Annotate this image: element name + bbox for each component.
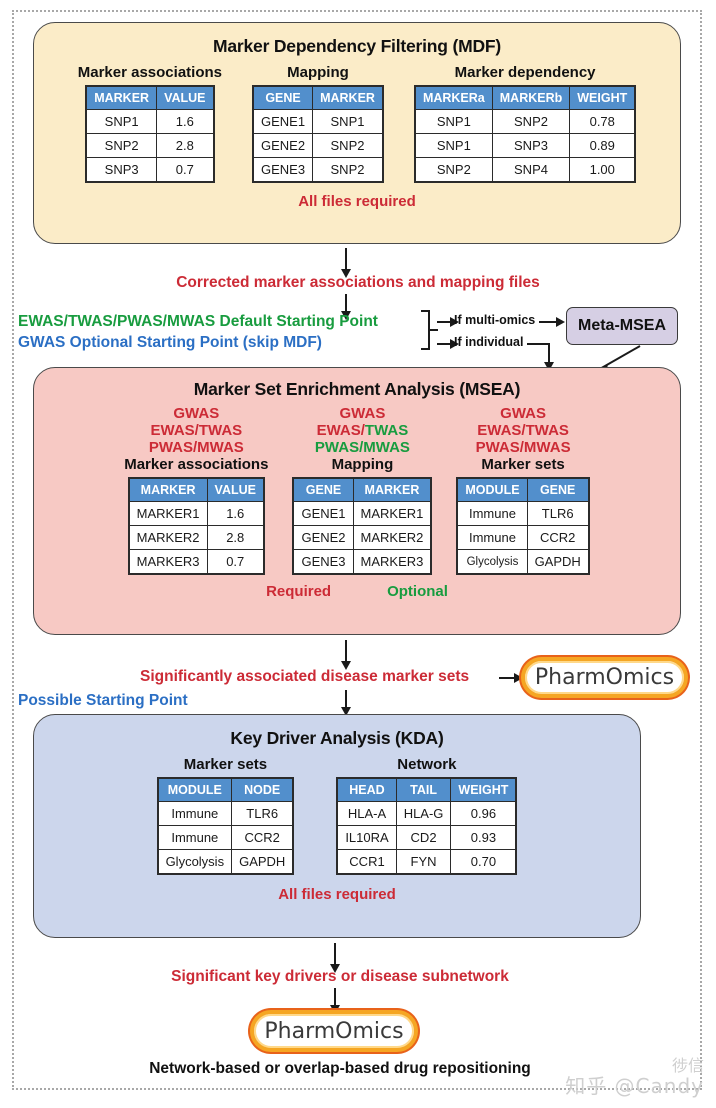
table-header-row: HEADTAILWEIGHT — [337, 778, 516, 802]
table-header-row: MARKERVALUE — [86, 86, 213, 110]
table-cell: SNP2 — [415, 158, 492, 183]
data-table: HEADTAILWEIGHTHLA-AHLA-G0.96IL10RACD20.9… — [336, 777, 517, 875]
table-cell: Immune — [457, 502, 527, 526]
omics-text-2: TWAS — [365, 422, 408, 439]
table-row: SNP30.7 — [86, 158, 213, 183]
pharmomics-logo-bottom[interactable]: PharmOmics — [250, 1010, 418, 1052]
table-cell: HLA-G — [396, 802, 451, 826]
omics-text: EWAS/ — [317, 422, 365, 439]
table-cell: MARKER3 — [353, 550, 431, 575]
table-header-row: GENEMARKER — [293, 478, 431, 502]
column-header: WEIGHT — [570, 86, 636, 110]
table-row: GENE1SNP1 — [253, 110, 383, 134]
column-caption: Network — [397, 756, 456, 773]
table-cell: SNP2 — [313, 134, 383, 158]
table-row: SNP1SNP30.89 — [415, 134, 635, 158]
column-header: MODULE — [457, 478, 527, 502]
table-cell: CCR2 — [232, 826, 294, 850]
data-table: GENEMARKERGENE1MARKER1GENE2MARKER2GENE3M… — [292, 477, 432, 575]
column-header: TAIL — [396, 778, 451, 802]
table-cell: Glycolysis — [457, 550, 527, 575]
column-header: MARKER — [353, 478, 431, 502]
column-header: HEAD — [337, 778, 396, 802]
table-row: MARKER30.7 — [129, 550, 264, 575]
table-cell: SNP2 — [492, 110, 570, 134]
omics-line: GWAS — [476, 405, 571, 422]
column-header: MODULE — [158, 778, 232, 802]
table-column-1: Marker associationsMARKERVALUESNP11.6SNP… — [78, 64, 222, 183]
omics-line: EWAS/TWAS — [476, 422, 571, 439]
kda-title: Key Driver Analysis (KDA) — [34, 728, 640, 749]
table-row: SNP11.6 — [86, 110, 213, 134]
table-cell: GENE3 — [293, 550, 353, 575]
table-row: MARKER22.8 — [129, 526, 264, 550]
table-cell: Glycolysis — [158, 850, 232, 875]
table-cell: 1.00 — [570, 158, 636, 183]
branch-bracket-stem — [429, 329, 438, 331]
column-caption: Mapping — [332, 456, 394, 473]
arrow-to-bottom-pharmomics — [334, 988, 336, 1006]
table-row: GENE2MARKER2 — [293, 526, 431, 550]
column-header: GENE — [293, 478, 353, 502]
table-cell: SNP1 — [313, 110, 383, 134]
omics-labels: GWASEWAS/TWASPWAS/MWAS — [315, 405, 410, 456]
data-table: MARKERVALUESNP11.6SNP22.8SNP30.7 — [85, 85, 214, 183]
significant-sets-label: Significantly associated disease marker … — [140, 668, 469, 686]
column-caption: Mapping — [287, 64, 349, 81]
table-row: IL10RACD20.93 — [337, 826, 516, 850]
table-cell: SNP1 — [86, 110, 156, 134]
table-cell: TLR6 — [527, 502, 589, 526]
table-cell: 0.70 — [451, 850, 517, 875]
column-header: VALUE — [207, 478, 264, 502]
table-cell: 0.7 — [207, 550, 264, 575]
table-cell: FYN — [396, 850, 451, 875]
table-cell: Immune — [457, 526, 527, 550]
column-header: MARKERa — [415, 86, 492, 110]
mdf-note: All files required — [34, 193, 680, 210]
mdf-title: Marker Dependency Filtering (MDF) — [34, 36, 680, 57]
omics-text: GWAS — [500, 405, 546, 422]
table-row: ImmuneTLR6 — [457, 502, 588, 526]
table-cell: MARKER1 — [129, 502, 207, 526]
pharmomics-label-bottom: PharmOmics — [264, 1019, 403, 1044]
column-caption: Marker associations — [124, 456, 268, 473]
omics-text: GWAS — [173, 405, 219, 422]
table-cell: 1.6 — [157, 110, 214, 134]
table-column-1: GWASEWAS/TWASPWAS/MWASMarker association… — [124, 405, 268, 575]
omics-line: GWAS — [149, 405, 244, 422]
meta-msea-box[interactable]: Meta-MSEA — [566, 307, 678, 345]
table-header-row: GENEMARKER — [253, 86, 383, 110]
data-table: GENEMARKERGENE1SNP1GENE2SNP2GENE3SNP2 — [252, 85, 384, 183]
table-cell: 0.89 — [570, 134, 636, 158]
table-row: ImmuneCCR2 — [457, 526, 588, 550]
omics-text: EWAS/TWAS — [477, 422, 569, 439]
table-row: MARKER11.6 — [129, 502, 264, 526]
column-caption: Marker associations — [78, 64, 222, 81]
omics-line: PWAS/MWAS — [149, 439, 244, 456]
omics-line: GWAS — [315, 405, 410, 422]
table-cell: TLR6 — [232, 802, 294, 826]
pharmomics-label: PharmOmics — [535, 665, 674, 690]
table-row: GENE3MARKER3 — [293, 550, 431, 575]
table-cell: Immune — [158, 802, 232, 826]
table-cell: GAPDH — [527, 550, 589, 575]
omics-line: PWAS/MWAS — [315, 439, 410, 456]
table-row: GENE3SNP2 — [253, 158, 383, 183]
table-cell: GENE1 — [253, 110, 313, 134]
omics-line: PWAS/MWAS — [476, 439, 571, 456]
table-column-3: Marker dependencyMARKERaMARKERbWEIGHTSNP… — [414, 64, 636, 183]
column-header: MARKER — [129, 478, 207, 502]
arrow-to-if-individual — [437, 343, 451, 345]
omics-line: EWAS/TWAS — [149, 422, 244, 439]
table-column-2: GWASEWAS/TWASPWAS/MWASMappingGENEMARKERG… — [292, 405, 432, 575]
data-table: MARKERVALUEMARKER11.6MARKER22.8MARKER30.… — [128, 477, 265, 575]
table-row: SNP2SNP41.00 — [415, 158, 635, 183]
watermark: 徏信 知乎 @Candy — [565, 1056, 704, 1096]
column-header: NODE — [232, 778, 294, 802]
table-column-3: GWASEWAS/TWASPWAS/MWASMarker setsMODULEG… — [456, 405, 589, 575]
msea-title: Marker Set Enrichment Analysis (MSEA) — [34, 379, 680, 400]
elbow-individual-horizontal — [527, 343, 550, 345]
table-cell: SNP1 — [415, 134, 492, 158]
table-cell: SNP3 — [86, 158, 156, 183]
table-cell: 2.8 — [207, 526, 264, 550]
table-header-row: MODULEGENE — [457, 478, 588, 502]
table-cell: GENE1 — [293, 502, 353, 526]
arrow-multiomics-to-meta — [539, 321, 557, 323]
column-caption: Marker dependency — [455, 64, 596, 81]
table-row: SNP22.8 — [86, 134, 213, 158]
table-header-row: MARKERVALUE — [129, 478, 264, 502]
column-header: MARKERb — [492, 86, 570, 110]
data-table: MARKERaMARKERbWEIGHTSNP1SNP20.78SNP1SNP3… — [414, 85, 636, 183]
table-row: ImmuneTLR6 — [158, 802, 294, 826]
omics-text: EWAS/TWAS — [150, 422, 242, 439]
column-header: WEIGHT — [451, 778, 517, 802]
data-table: MODULENODEImmuneTLR6ImmuneCCR2Glycolysis… — [157, 777, 295, 875]
corrected-files-label: Corrected marker associations and mappin… — [0, 274, 716, 292]
default-starting-point: EWAS/TWAS/PWAS/MWAS Default Starting Poi… — [18, 313, 378, 331]
if-multiomics-label: If multi-omics — [454, 313, 535, 327]
column-header: VALUE — [157, 86, 214, 110]
table-cell: MARKER2 — [129, 526, 207, 550]
pharmomics-logo-right[interactable]: PharmOmics — [521, 657, 688, 698]
table-column-2: MappingGENEMARKERGENE1SNP1GENE2SNP2GENE3… — [252, 64, 384, 183]
table-header-row: MARKERaMARKERbWEIGHT — [415, 86, 635, 110]
omics-labels: GWASEWAS/TWASPWAS/MWAS — [476, 405, 571, 456]
table-row: GENE2SNP2 — [253, 134, 383, 158]
table-cell: SNP2 — [313, 158, 383, 183]
arrow-corrected-to-start — [345, 294, 347, 312]
table-cell: 0.96 — [451, 802, 517, 826]
key-drivers-label: Significant key drivers or disease subne… — [0, 968, 680, 986]
optional-starting-point: GWAS Optional Starting Point (skip MDF) — [18, 334, 322, 352]
table-cell: SNP4 — [492, 158, 570, 183]
omics-text: PWAS/MWAS — [149, 439, 244, 456]
column-header: MARKER — [313, 86, 383, 110]
table-cell: CCR1 — [337, 850, 396, 875]
table-cell: SNP3 — [492, 134, 570, 158]
table-cell: 1.6 — [207, 502, 264, 526]
column-header: MARKER — [86, 86, 156, 110]
table-cell: CD2 — [396, 826, 451, 850]
kda-panel: Key Driver Analysis (KDA) Marker setsMOD… — [33, 714, 641, 938]
if-individual-label: If individual — [454, 335, 523, 349]
column-header: GENE — [253, 86, 313, 110]
table-cell: GAPDH — [232, 850, 294, 875]
table-cell: MARKER3 — [129, 550, 207, 575]
msea-required-label: Required — [266, 583, 331, 600]
table-cell: GENE2 — [293, 526, 353, 550]
arrow-to-pharmomics-right — [499, 677, 515, 679]
table-cell: 0.93 — [451, 826, 517, 850]
table-cell: MARKER1 — [353, 502, 431, 526]
arrow-kda-down — [334, 943, 336, 965]
table-cell: IL10RA — [337, 826, 396, 850]
table-cell: 0.7 — [157, 158, 214, 183]
table-cell: CCR2 — [527, 526, 589, 550]
table-row: GlycolysisGAPDH — [158, 850, 294, 875]
table-cell: Immune — [158, 826, 232, 850]
kda-note: All files required — [34, 886, 640, 903]
possible-starting-point-label: Possible Starting Point — [18, 692, 188, 710]
arrow-msea-down — [345, 640, 347, 662]
table-cell: GENE3 — [253, 158, 313, 183]
column-header: GENE — [527, 478, 589, 502]
arrow-individual-to-msea — [548, 343, 550, 363]
table-cell: 0.78 — [570, 110, 636, 134]
omics-text: GWAS — [339, 405, 385, 422]
meta-msea-label: Meta-MSEA — [578, 317, 666, 335]
table-row: ImmuneCCR2 — [158, 826, 294, 850]
table-column-1: Marker setsMODULENODEImmuneTLR6ImmuneCCR… — [157, 756, 295, 875]
omics-labels: GWASEWAS/TWASPWAS/MWAS — [149, 405, 244, 456]
table-cell: GENE2 — [253, 134, 313, 158]
msea-optional-label: Optional — [387, 583, 448, 600]
table-cell: 2.8 — [157, 134, 214, 158]
mdf-panel: Marker Dependency Filtering (MDF) Marker… — [33, 22, 681, 244]
table-cell: MARKER2 — [353, 526, 431, 550]
table-cell: HLA-A — [337, 802, 396, 826]
column-caption: Marker sets — [481, 456, 564, 473]
watermark-line2: 知乎 @Candy — [565, 1076, 704, 1096]
table-header-row: MODULENODE — [158, 778, 294, 802]
arrow-mdf-to-corrected — [345, 248, 347, 270]
msea-panel: Marker Set Enrichment Analysis (MSEA) GW… — [33, 367, 681, 635]
arrow-to-if-multiomics — [437, 321, 451, 323]
column-caption: Marker sets — [184, 756, 267, 773]
omics-text: PWAS/MWAS — [476, 439, 571, 456]
table-row: GlycolysisGAPDH — [457, 550, 588, 575]
table-column-2: NetworkHEADTAILWEIGHTHLA-AHLA-G0.96IL10R… — [336, 756, 517, 875]
table-row: GENE1MARKER1 — [293, 502, 431, 526]
arrow-to-kda — [345, 690, 347, 708]
omics-text: PWAS/MWAS — [315, 439, 410, 456]
table-cell: SNP1 — [415, 110, 492, 134]
watermark-line1: 徏信 — [565, 1056, 704, 1076]
data-table: MODULEGENEImmuneTLR6ImmuneCCR2Glycolysis… — [456, 477, 589, 575]
table-cell: SNP2 — [86, 134, 156, 158]
table-row: SNP1SNP20.78 — [415, 110, 635, 134]
table-row: CCR1FYN0.70 — [337, 850, 516, 875]
table-row: HLA-AHLA-G0.96 — [337, 802, 516, 826]
omics-line: EWAS/TWAS — [315, 422, 410, 439]
